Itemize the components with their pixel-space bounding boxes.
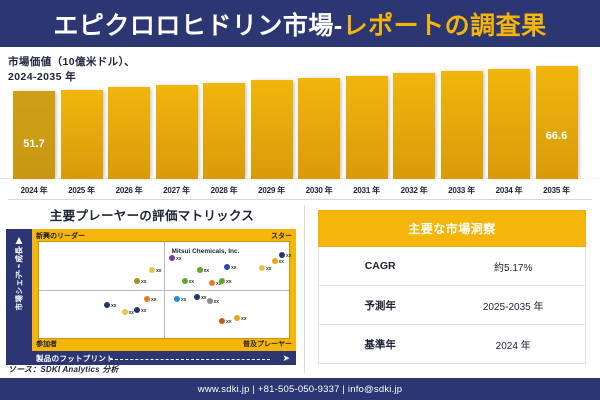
matrix-data-point-label: xx xyxy=(141,308,147,314)
bar xyxy=(298,78,340,179)
matrix-data-point xyxy=(122,309,128,315)
bar xyxy=(61,90,103,179)
bar-category-label: 2027 年 xyxy=(150,185,204,196)
matrix-y-axis: 市場シェア・成長 xyxy=(6,229,32,351)
matrix-plot-area: Mitsui Chemicals, Inc. xxxxxxxxxxxxxxxxx… xyxy=(38,241,290,339)
matrix-title: 主要プレーヤーの評価マトリックス xyxy=(6,202,298,229)
bar-category-label: 2025 年 xyxy=(55,185,109,196)
matrix-data-point xyxy=(169,255,175,261)
matrix-data-point xyxy=(197,267,203,273)
bar-category-label: 2035 年 xyxy=(530,185,584,196)
matrix-data-point-label: xx xyxy=(286,253,292,259)
bar xyxy=(251,80,293,179)
matrix-data-point xyxy=(207,298,213,304)
bar xyxy=(13,91,55,179)
evaluation-matrix-panel: 主要プレーヤーの評価マトリックス 市場シェア・成長 新興のリーダー スター 参加… xyxy=(6,202,298,374)
insight-value: 2025-2035 年 xyxy=(441,298,585,313)
matrix-data-point xyxy=(279,252,285,258)
bar xyxy=(346,76,388,179)
matrix-data-point xyxy=(234,315,240,321)
bar xyxy=(441,71,483,179)
bar-category-label: 2030 年 xyxy=(292,185,346,196)
insight-row: 予測年2025-2035 年 xyxy=(318,286,586,325)
key-insights-heading: 主要な市場洞察 xyxy=(318,210,586,247)
matrix-data-point-label: xx xyxy=(204,268,210,274)
key-insights-panel: 主要な市場洞察 CAGR約5.17%予測年2025-2035 年基準年2024 … xyxy=(318,210,586,370)
quadrant-label-participants: 参加者 xyxy=(36,339,57,349)
insight-value: 2024 年 xyxy=(441,337,585,352)
insight-value: 約5.17% xyxy=(441,259,585,274)
matrix-data-point xyxy=(194,294,200,300)
bar xyxy=(156,85,198,179)
bar-value-label: 51.7 xyxy=(13,138,55,150)
matrix-data-point xyxy=(219,278,225,284)
bar-category-label: 2031 年 xyxy=(340,185,394,196)
page-title-accent: レポートの調査果 xyxy=(343,12,547,40)
matrix-data-point-label: xx xyxy=(226,279,232,285)
matrix-data-point xyxy=(134,278,140,284)
matrix-x-axis-label: 製品のフットプリント xyxy=(36,353,114,364)
matrix-data-point-label: xx xyxy=(241,316,247,322)
footer-contact-text: www.sdki.jp | +81-505-050-9337 | info@sd… xyxy=(198,384,402,395)
bar-category-label: 2033 年 xyxy=(435,185,489,196)
x-axis-dash-line xyxy=(110,359,270,361)
bar-chart-section: 市場価値（10億米ドル）、 2024-2035 年 51.72024 年2025… xyxy=(0,47,600,199)
bar xyxy=(108,87,150,179)
page-title-primary: エピクロロヒドリン市場- xyxy=(53,12,342,40)
matrix-data-point xyxy=(104,302,110,308)
bar-category-label: 2032 年 xyxy=(387,185,441,196)
matrix-data-point xyxy=(219,318,225,324)
quadrant-label-pervasive-players: 普及プレーヤー xyxy=(243,339,292,349)
matrix-x-axis: 製品のフットプリント ➤ xyxy=(6,351,296,365)
bar xyxy=(488,69,530,179)
matrix-data-point xyxy=(224,264,230,270)
page-title: エピクロロヒドリン市場-レポートの調査果 xyxy=(53,6,546,42)
matrix-data-point-label: xx xyxy=(266,266,272,272)
bar-category-label: 2024 年 xyxy=(7,185,61,196)
quadrant-label-emerging-leaders: 新興のリーダー xyxy=(36,231,85,241)
quadrant-label-stars: スター xyxy=(271,231,292,241)
bar-value-label: 66.6 xyxy=(536,130,578,142)
matrix-highlight-label: Mitsui Chemicals, Inc. xyxy=(172,248,240,255)
matrix-data-point xyxy=(149,267,155,273)
bar-category-label: 2026 年 xyxy=(102,185,156,196)
matrix-data-point-label: xx xyxy=(189,279,195,285)
insight-key: 予測年 xyxy=(319,298,441,313)
key-insights-table: CAGR約5.17%予測年2025-2035 年基準年2024 年 xyxy=(318,247,586,364)
bar-category-label: 2029 年 xyxy=(245,185,299,196)
bar xyxy=(203,83,245,179)
matrix-data-point xyxy=(174,296,180,302)
matrix-data-point xyxy=(259,265,265,271)
page-footer: www.sdki.jp | +81-505-050-9337 | info@sd… xyxy=(0,378,600,400)
section-divider xyxy=(8,199,592,200)
matrix-data-point-label: xx xyxy=(231,265,237,271)
page-header: エピクロロヒドリン市場-レポートの調査果 xyxy=(0,0,600,47)
matrix-data-point-label: xx xyxy=(279,259,285,265)
bar xyxy=(536,66,578,179)
matrix-quadrant-frame: 新興のリーダー スター 参加者 普及プレーヤー Mitsui Chemicals… xyxy=(32,229,296,351)
x-axis-arrow-icon: ➤ xyxy=(282,354,290,362)
matrix-data-point-label: xx xyxy=(201,295,207,301)
matrix-data-point-label: xx xyxy=(226,319,232,325)
matrix-data-point xyxy=(134,307,140,313)
matrix-horizontal-divider xyxy=(39,290,289,291)
matrix-data-point-label: xx xyxy=(151,297,157,303)
matrix-data-point-label: xx xyxy=(111,303,117,309)
matrix-data-point-label: xx xyxy=(176,256,182,262)
bar xyxy=(393,73,435,179)
bar-category-label: 2028 年 xyxy=(197,185,251,196)
matrix-chart: 市場シェア・成長 新興のリーダー スター 参加者 普及プレーヤー Mitsui … xyxy=(6,229,296,365)
bar-category-label: 2034 年 xyxy=(482,185,536,196)
source-note: ソース：SDKI Analytics 分析 xyxy=(8,364,119,375)
panel-divider xyxy=(304,205,305,373)
matrix-data-point-label: xx xyxy=(156,268,162,274)
matrix-data-point-label: xx xyxy=(214,299,220,305)
matrix-data-point-label: xx xyxy=(181,297,187,303)
matrix-y-axis-label: 市場シェア・成長 xyxy=(14,226,25,332)
insight-key: 基準年 xyxy=(319,337,441,352)
insight-key: CAGR xyxy=(319,260,441,272)
matrix-data-point xyxy=(272,258,278,264)
insight-row: 基準年2024 年 xyxy=(318,325,586,364)
matrix-data-point xyxy=(209,280,215,286)
insight-row: CAGR約5.17% xyxy=(318,247,586,286)
matrix-data-point-label: xx xyxy=(141,279,147,285)
bar-chart: 51.72024 年2025 年2026 年2027 年2028 年2029 年… xyxy=(0,47,600,199)
matrix-data-point xyxy=(182,278,188,284)
matrix-data-point xyxy=(144,296,150,302)
